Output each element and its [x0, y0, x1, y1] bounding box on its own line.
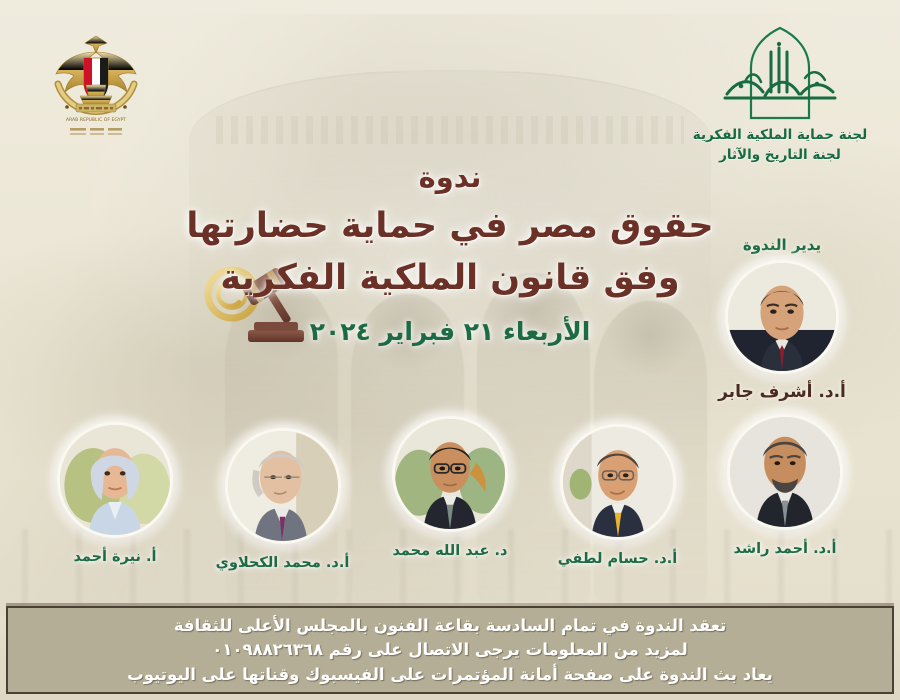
event-poster: ARAB REPUBLIC OF EGYPT: [0, 0, 900, 700]
avatar: [225, 428, 341, 544]
speaker-item: أ. نيرة أحمد: [40, 408, 190, 565]
scc-committee-line-1: لجنة حماية الملكية الفكرية: [690, 126, 870, 146]
avatar: [57, 422, 173, 538]
footer-line-2: لمزيد من المعلومات يرجى الاتصال على رقم …: [212, 639, 688, 660]
supreme-council-of-culture-logo: لجنة حماية الملكية الفكرية لجنة التاريخ …: [690, 22, 870, 165]
moderator-block: يدير الندوة أ.د. أشرف جابر: [692, 236, 872, 402]
moderator-name: أ.د. أشرف جابر: [692, 382, 872, 402]
speaker-name: د. عبد الله محمد: [375, 543, 525, 559]
avatar: [727, 414, 843, 530]
avatar: [560, 424, 676, 540]
moderator-role-label: يدير الندوة: [692, 236, 872, 254]
footer-line-1: تعقد الندوة في تمام السادسة بقاعة الفنون…: [174, 615, 727, 636]
speaker-item: د. عبد الله محمد: [375, 408, 525, 559]
avatar: [725, 260, 839, 374]
speaker-name: أ.د. حسام لطفي: [543, 551, 693, 567]
egypt-eagle-emblem: ARAB REPUBLIC OF EGYPT: [36, 22, 156, 142]
speaker-item: أ.د. أحمد راشد: [710, 408, 860, 557]
svg-text:ARAB REPUBLIC OF EGYPT: ARAB REPUBLIC OF EGYPT: [66, 117, 126, 123]
avatar: [392, 416, 508, 532]
footer-info-bar: تعقد الندوة في تمام السادسة بقاعة الفنون…: [6, 606, 894, 694]
speaker-name: أ. نيرة أحمد: [40, 549, 190, 565]
speaker-name: أ.د. محمد الكحلاوي: [208, 555, 358, 571]
speaker-name: أ.د. أحمد راشد: [710, 541, 860, 557]
speakers-row: أ. نيرة أحمد أ.د. م: [40, 408, 860, 571]
speaker-item: أ.د. محمد الكحلاوي: [208, 408, 358, 571]
hieroglyph-frieze: [216, 116, 684, 144]
event-kicker: ندوة: [0, 160, 900, 194]
footer-line-3: يعاد بث الندوة على صفحة أمانة المؤتمرات …: [127, 664, 773, 685]
speaker-item: أ.د. حسام لطفي: [543, 408, 693, 567]
